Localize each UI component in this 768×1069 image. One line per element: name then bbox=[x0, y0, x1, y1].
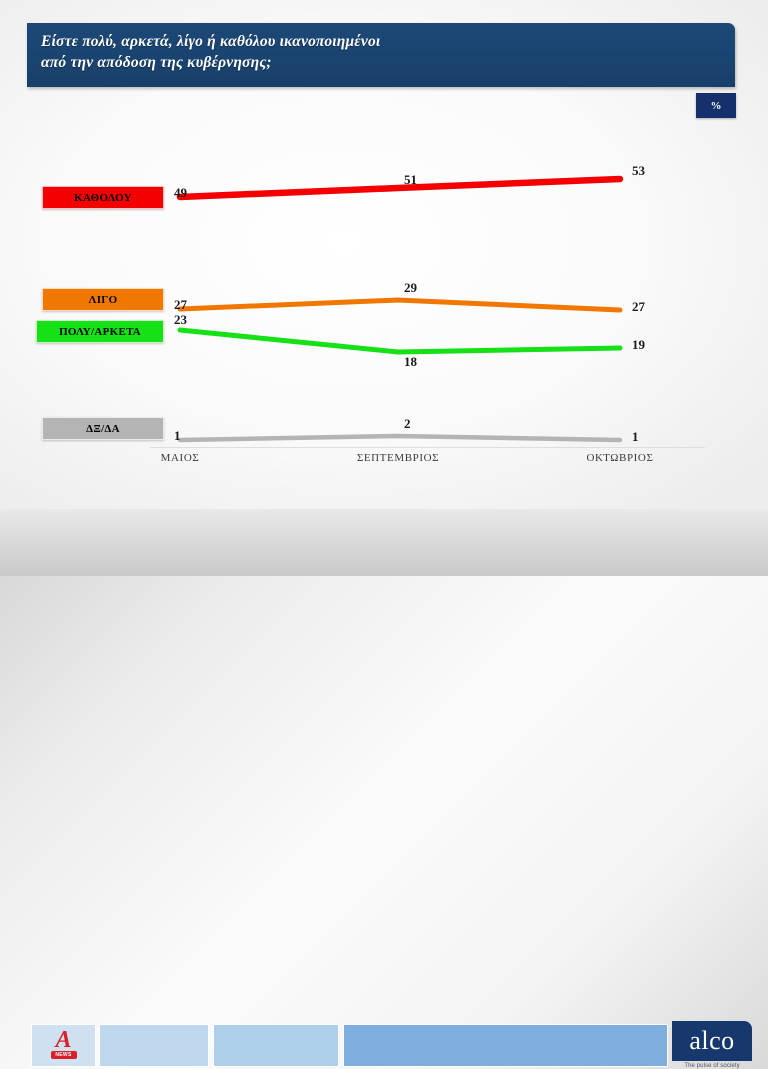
broadcaster-logo-block: Α NEWS bbox=[31, 1024, 96, 1067]
value-label-0-0: 49 bbox=[174, 185, 187, 201]
value-label-2-2: 19 bbox=[632, 337, 645, 353]
footer-block-4 bbox=[343, 1024, 668, 1067]
title-banner: Είστε πολύ, αρκετά, λίγο ή καθόλου ικανο… bbox=[27, 23, 735, 87]
series-line-group bbox=[180, 179, 620, 440]
axis-label-1: ΣΕΠΤΕΜΒΡΙΟΣ bbox=[357, 452, 439, 464]
footer-strip: Α NEWS alco The pulse of society bbox=[0, 509, 768, 576]
legend-label-katholou: ΚΑΘΟΛΟΥ bbox=[74, 192, 132, 204]
legend-label-dx-da: ΔΞ/ΔΑ bbox=[86, 423, 120, 435]
alpha-glyph: Α bbox=[51, 1030, 77, 1050]
alpha-sub-label: NEWS bbox=[51, 1051, 77, 1059]
legend-label-ligo: ΛΙΓΟ bbox=[89, 294, 118, 306]
alco-wordmark: alco bbox=[689, 1028, 734, 1054]
value-label-3-1: 2 bbox=[404, 416, 411, 432]
legend-chip-ligo[interactable]: ΛΙΓΟ bbox=[42, 288, 164, 311]
alco-tagline: The pulse of society bbox=[672, 1063, 752, 1069]
axis-baseline bbox=[150, 447, 705, 448]
axis-label-0: ΜΑΙΟΣ bbox=[161, 452, 200, 464]
alco-logo: alco bbox=[672, 1021, 752, 1061]
value-label-3-0: 1 bbox=[174, 428, 181, 444]
value-label-1-2: 27 bbox=[632, 299, 645, 315]
page-title: Είστε πολύ, αρκετά, λίγο ή καθόλου ικανο… bbox=[41, 31, 725, 74]
percent-unit-badge: % bbox=[696, 93, 736, 118]
series-line-0 bbox=[180, 179, 620, 197]
series-line-1 bbox=[180, 300, 620, 310]
value-label-2-0: 23 bbox=[174, 312, 187, 328]
footer-block-3 bbox=[213, 1024, 339, 1067]
axis-label-2: ΟΚΤΩΒΡΙΟΣ bbox=[587, 452, 654, 464]
series-line-3 bbox=[180, 436, 620, 440]
legend-label-poly-arketa: ΠΟΛΥ/ΑΡΚΕΤΑ bbox=[59, 326, 141, 338]
alpha-logo: Α NEWS bbox=[51, 1030, 77, 1059]
footer-block-2 bbox=[99, 1024, 209, 1067]
value-label-1-1: 29 bbox=[404, 280, 417, 296]
value-label-1-0: 27 bbox=[174, 297, 187, 313]
legend-chip-poly-arketa[interactable]: ΠΟΛΥ/ΑΡΚΕΤΑ bbox=[36, 320, 164, 343]
value-label-0-1: 51 bbox=[404, 172, 417, 188]
series-line-2 bbox=[180, 330, 620, 352]
value-label-0-2: 53 bbox=[632, 163, 645, 179]
legend-chip-katholou[interactable]: ΚΑΘΟΛΟΥ bbox=[42, 186, 164, 209]
slide-canvas: Είστε πολύ, αρκετά, λίγο ή καθόλου ικανο… bbox=[0, 0, 768, 576]
legend-chip-dx-da[interactable]: ΔΞ/ΔΑ bbox=[42, 417, 164, 440]
value-label-3-2: 1 bbox=[632, 429, 639, 445]
value-label-2-1: 18 bbox=[404, 354, 417, 370]
